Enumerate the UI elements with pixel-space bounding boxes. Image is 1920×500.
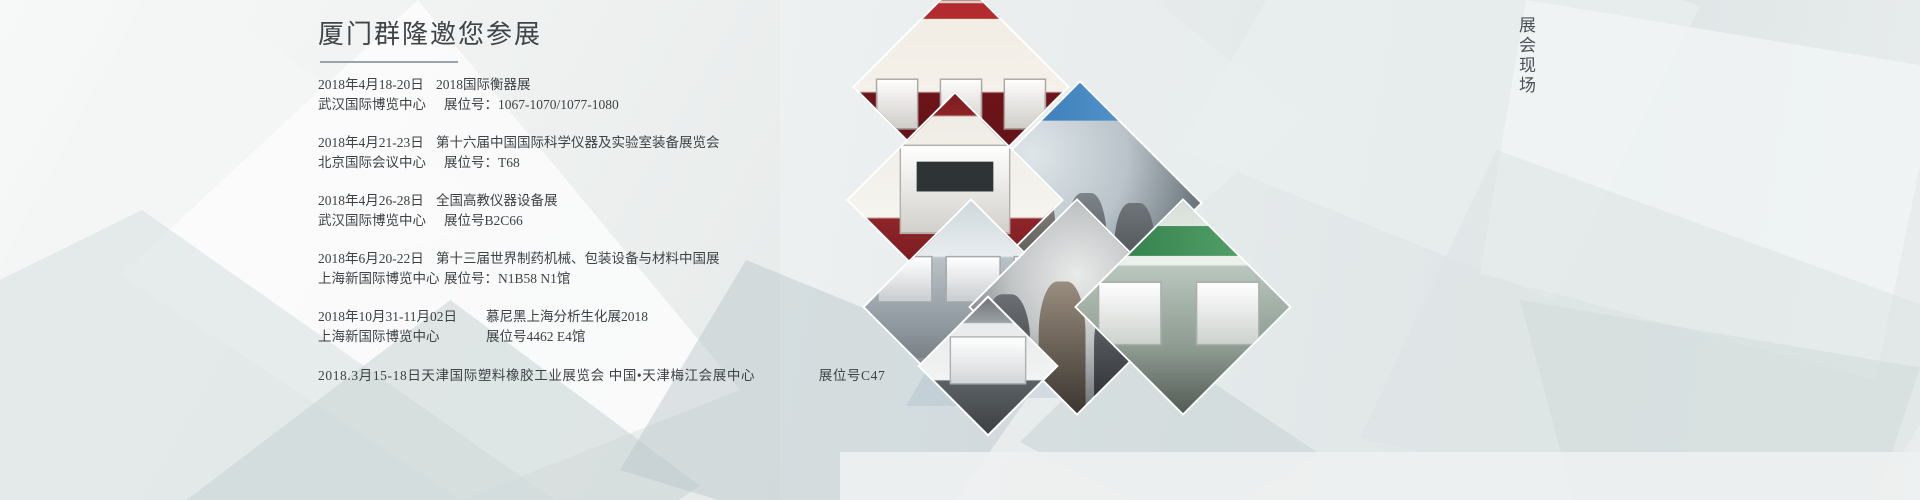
event-venue: 武汉国际博览中心 — [318, 95, 444, 115]
event-line-primary: 2018年6月20-22日第十三届世界制药机械、包装设备与材料中国展 — [318, 249, 878, 269]
booth-stand — [877, 256, 932, 303]
event-line-secondary: 北京国际会议中心展位号：T68 — [318, 153, 878, 173]
event-venue: 武汉国际博览中心 — [318, 211, 444, 231]
event-line-primary: 2018年4月18-20日2018国际衡器展 — [318, 75, 878, 95]
title-underline-rule — [320, 61, 458, 63]
event-name: 第十三届世界制药机械、包装设备与材料中国展 — [436, 249, 720, 269]
booth-sign — [867, 0, 1054, 19]
event-name: 第十六届中国国际科学仪器及实验室装备展览会 — [436, 133, 720, 153]
event-date: 2018年10月31-11月02日 — [318, 307, 486, 327]
event-item: 2018年4月26-28日全国高教仪器设备展 武汉国际博览中心展位号B2C66 — [318, 191, 878, 231]
event-date: 2018年6月20-22日 — [318, 249, 436, 269]
event-booth: 展位号：N1B58 N1馆 — [444, 269, 570, 289]
instrument-unit — [950, 336, 1026, 385]
vertical-caption-onsite: 展会现场 — [1512, 16, 1538, 96]
event-name: 全国高教仪器设备展 — [436, 191, 558, 211]
instrument-unit — [876, 78, 919, 129]
event-date: 2018年4月21-23日 — [318, 133, 436, 153]
event-line-primary: 2018年4月21-23日第十六届中国国际科学仪器及实验室装备展览会 — [318, 133, 878, 153]
event-line-primary: 2018年4月26-28日全国高教仪器设备展 — [318, 191, 878, 211]
exhibition-invitation-banner: 厦门群隆邀您参展 2018年4月18-20日2018国际衡器展 武汉国际博览中心… — [0, 0, 1920, 500]
photo-diamond-mosaic — [840, 0, 1260, 500]
event-venue: 中国•天津梅江会展中心 — [609, 365, 819, 387]
event-booth: 展位号4462 E4馆 — [486, 327, 585, 347]
event-item: 2018年10月31-11月02日慕尼黑上海分析生化展2018 上海新国际博览中… — [318, 307, 878, 347]
event-item-last: 2018.3月15-18日天津国际塑料橡胶工业展览会 中国•天津梅江会展中心展位… — [318, 365, 878, 387]
page-title: 厦门群隆邀您参展 — [318, 18, 878, 59]
instrument-unit — [1098, 281, 1162, 345]
event-item: 2018年4月21-23日第十六届中国国际科学仪器及实验室装备展览会 北京国际会… — [318, 133, 878, 173]
event-booth: 展位号：1067-1070/1077-1080 — [444, 95, 619, 115]
event-name: 2018国际衡器展 — [436, 75, 531, 95]
event-line-secondary: 上海新国际博览中心展位号4462 E4馆 — [318, 327, 878, 347]
event-date: 2018年4月26-28日 — [318, 191, 436, 211]
event-name: 慕尼黑上海分析生化展2018 — [486, 307, 648, 327]
event-line-primary: 2018.3月15-18日天津国际塑料橡胶工业展览会 — [318, 368, 605, 383]
instrument-unit — [1196, 281, 1260, 345]
event-line-secondary: 武汉国际博览中心展位号：1067-1070/1077-1080 — [318, 95, 878, 115]
event-line-primary: 2018年10月31-11月02日慕尼黑上海分析生化展2018 — [318, 307, 878, 327]
person-figure — [1039, 281, 1086, 413]
event-item: 2018年4月18-20日2018国际衡器展 武汉国际博览中心展位号：1067-… — [318, 75, 878, 115]
event-booth: 展位号B2C66 — [444, 211, 523, 231]
event-venue: 上海新国际博览中心 — [318, 327, 486, 347]
event-venue: 上海新国际博览中心 — [318, 269, 444, 289]
event-venue: 北京国际会议中心 — [318, 153, 444, 173]
event-date: 2018年4月18-20日 — [318, 75, 436, 95]
event-booth: 展位号：T68 — [444, 153, 520, 173]
event-list-column: 厦门群隆邀您参展 2018年4月18-20日2018国际衡器展 武汉国际博览中心… — [318, 18, 878, 387]
event-line-secondary: 武汉国际博览中心展位号B2C66 — [318, 211, 878, 231]
event-item: 2018年6月20-22日第十三届世界制药机械、包装设备与材料中国展 上海新国际… — [318, 249, 878, 289]
event-line-secondary: 上海新国际博览中心展位号：N1B58 N1馆 — [318, 269, 878, 289]
